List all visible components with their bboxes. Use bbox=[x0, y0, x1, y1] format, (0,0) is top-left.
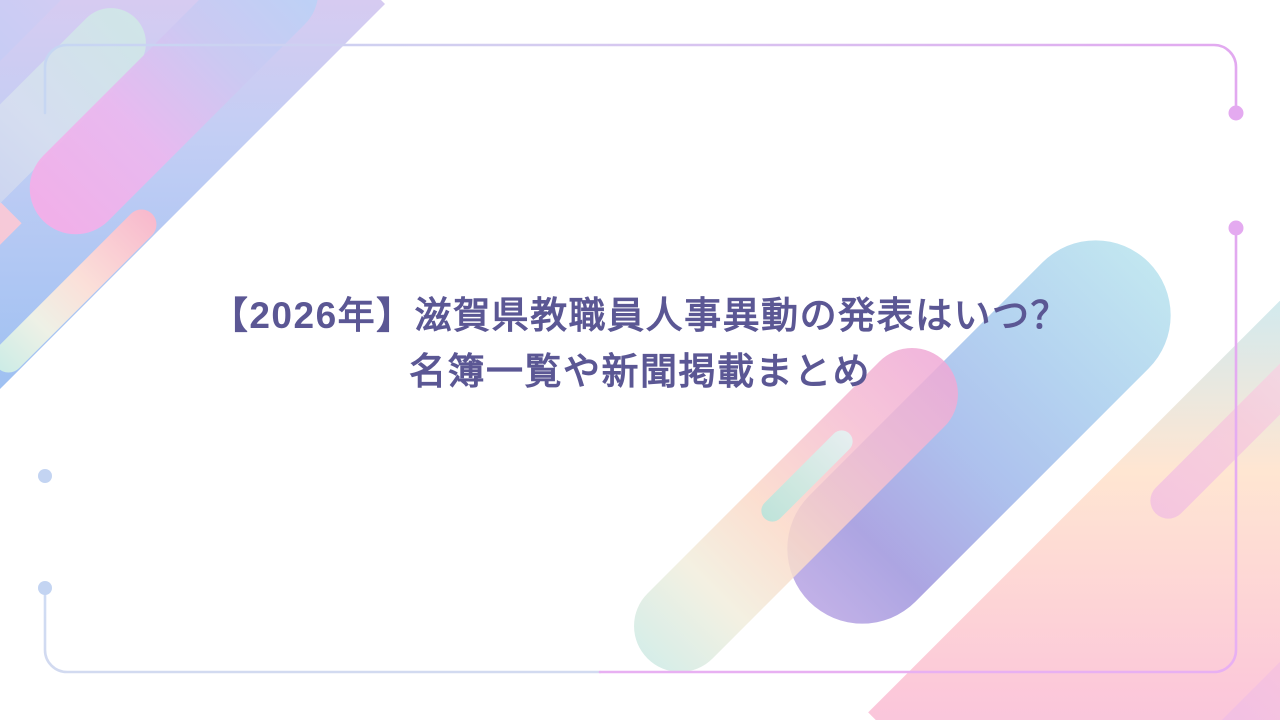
page-title: 【2026年】滋賀県教職員人事異動の発表はいつ？ 名簿一覧や新聞掲載まとめ bbox=[0, 288, 1280, 400]
bottom-right-capsule-blue bbox=[756, 209, 1201, 654]
frame-dot-left-upper bbox=[38, 469, 52, 483]
frame-dot-right-upper bbox=[1229, 106, 1244, 121]
thumbnail-canvas: 【2026年】滋賀県教職員人事異動の発表はいつ？ 名簿一覧や新聞掲載まとめ bbox=[0, 0, 1280, 720]
frame-dot-right-lower bbox=[1229, 221, 1244, 236]
title-line-2: 名簿一覧や新聞掲載まとめ bbox=[60, 344, 1220, 400]
top-left-diagonal-band-1 bbox=[0, 0, 106, 571]
frame-dot-left-lower bbox=[38, 581, 52, 595]
title-line-1: 【2026年】滋賀県教職員人事異動の発表はいつ？ bbox=[60, 288, 1220, 344]
bottom-right-thin-capsule bbox=[757, 426, 857, 526]
top-left-capsule-violet bbox=[11, 0, 338, 253]
top-left-capsule-teal bbox=[0, 0, 160, 276]
frame-top-path bbox=[45, 45, 1236, 113]
frame-left-lower-path bbox=[45, 589, 600, 672]
